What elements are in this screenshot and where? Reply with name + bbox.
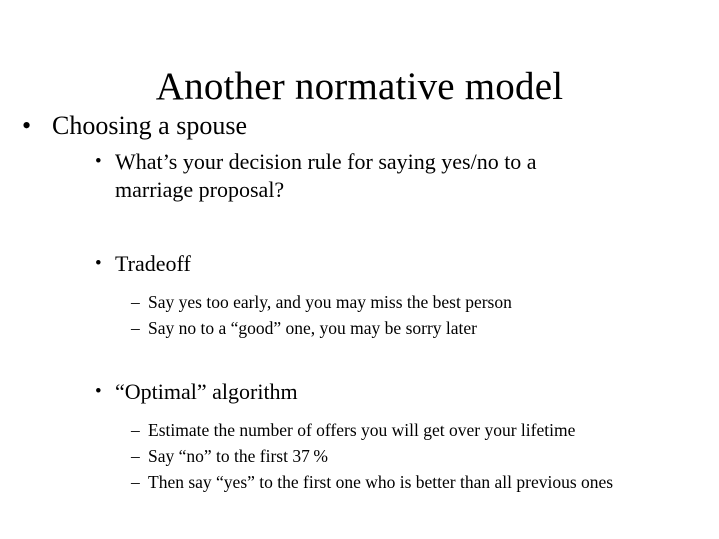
presentation-slide: Another normative model • Choosing a spo…: [0, 0, 719, 539]
slide-title: Another normative model: [0, 64, 719, 110]
bullet-level3-say-yes-too-early: – Say yes too early, and you may miss th…: [0, 291, 719, 314]
bullet-level3-say-no-to-first-37-percent: – Say “no” to the first 37 %: [0, 445, 719, 468]
bullet-text: Choosing a spouse: [52, 111, 247, 140]
bullet-level2-decision-rule: • What’s your decision rule for saying y…: [0, 148, 719, 204]
dash-marker-icon: –: [131, 419, 140, 442]
bullet-marker-icon: •: [22, 110, 31, 142]
bullet-text: What’s your decision rule for saying yes…: [115, 149, 537, 202]
spacer: [0, 204, 719, 246]
bullet-text: Estimate the number of offers you will g…: [148, 420, 575, 440]
dash-marker-icon: –: [131, 445, 140, 468]
bullet-text: Tradeoff: [115, 251, 191, 276]
bullet-marker-icon: •: [95, 378, 102, 406]
bullet-text: Say no to a “good” one, you may be sorry…: [148, 318, 477, 338]
dash-marker-icon: –: [131, 471, 140, 494]
dash-marker-icon: –: [131, 317, 140, 340]
bullet-marker-icon: •: [95, 148, 102, 176]
bullet-text: “Optimal” algorithm: [115, 379, 298, 404]
slide-body: • Choosing a spouse • What’s your decisi…: [0, 110, 719, 494]
bullet-level2-optimal-algorithm: • “Optimal” algorithm: [0, 378, 719, 406]
bullet-text: Say “no” to the first 37 %: [148, 446, 328, 466]
spacer: [0, 406, 719, 416]
bullet-level3-then-say-yes-to-first-better: – Then say “yes” to the first one who is…: [0, 471, 719, 494]
spacer: [0, 340, 719, 374]
bullet-level1-choosing-a-spouse: • Choosing a spouse: [0, 110, 719, 142]
bullet-text: Say yes too early, and you may miss the …: [148, 292, 512, 312]
bullet-level2-tradeoff: • Tradeoff: [0, 250, 719, 278]
bullet-level3-estimate-number-of-offers: – Estimate the number of offers you will…: [0, 419, 719, 442]
dash-marker-icon: –: [131, 291, 140, 314]
bullet-level3-say-no-to-a-good-one: – Say no to a “good” one, you may be sor…: [0, 317, 719, 340]
bullet-marker-icon: •: [95, 250, 102, 278]
bullet-text: Then say “yes” to the first one who is b…: [148, 472, 613, 492]
spacer: [0, 278, 719, 288]
